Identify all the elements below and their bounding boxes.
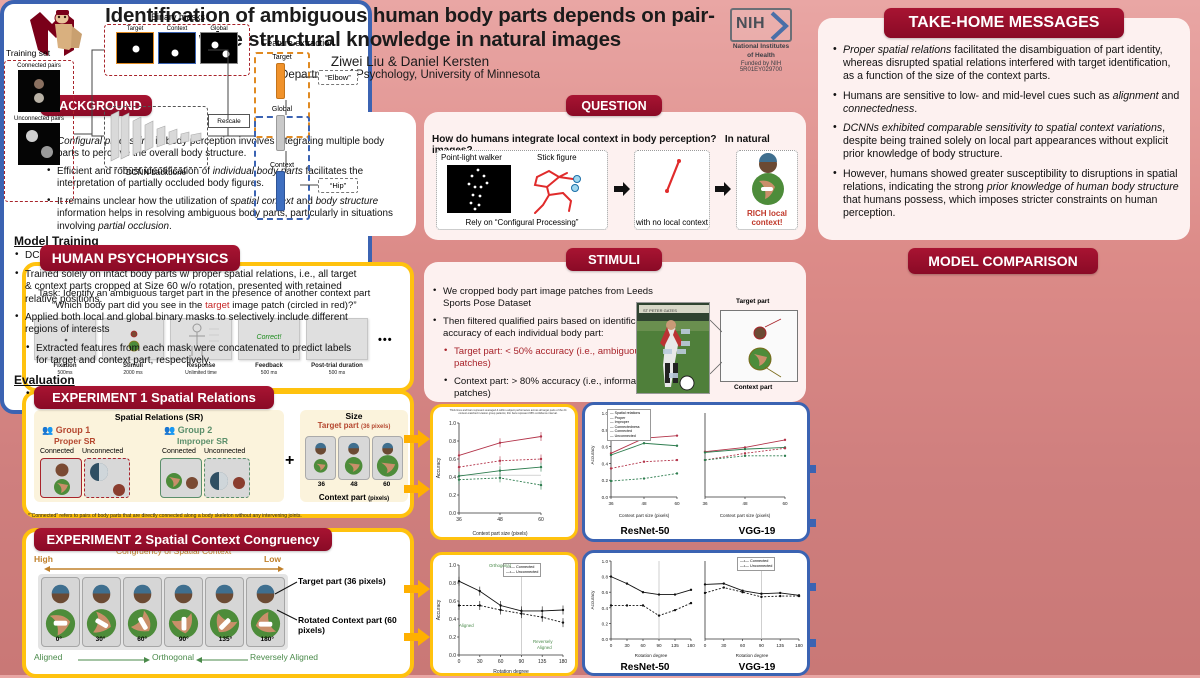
svg-text:60: 60 [538,517,544,523]
exp2-model-result-frame: 0.00.20.40.60.81.0Accuracy0306090135180R… [582,550,810,676]
rich-context-caption: RICH local context! [737,209,797,227]
svg-text:36: 36 [456,517,462,523]
svg-text:0.0: 0.0 [449,653,456,659]
stick-figure-label: Stick figure [537,153,577,162]
stimuli-target-callout: Target part [736,298,769,305]
nih-badge-icon: NIH [730,8,792,42]
legend-item: — Unconnected [610,434,648,439]
svg-text:0.6: 0.6 [602,445,609,450]
svg-text:60: 60 [498,659,504,665]
svg-text:0.4: 0.4 [602,606,609,611]
exp2-resnet-label: ResNet-50 [599,662,691,673]
svg-text:0.0: 0.0 [602,495,609,500]
svg-text:135: 135 [671,643,679,648]
experiment1-footnote: *“Connected” refers to pairs of body par… [28,513,408,519]
svg-text:36: 36 [608,501,614,506]
cell-improper-connected [160,458,202,498]
chevron-right-icon [769,11,791,41]
svg-text:Context part size (pixels): Context part size (pixels) [619,513,670,518]
no-context-image [635,151,709,203]
svg-text:30: 30 [477,659,483,665]
list-item: Extracted features from each mask were c… [14,343,362,368]
point-light-walker-label: Point-light walker [441,153,502,162]
svg-text:0.6: 0.6 [449,457,456,463]
svg-text:0: 0 [610,643,613,648]
svg-text:48: 48 [497,517,503,523]
cell-improper-unconnected [204,458,250,498]
cell-proper-connected [40,458,82,498]
svg-text:Rotation degree: Rotation degree [493,669,529,675]
svg-text:48: 48 [742,501,748,506]
question-card: How do humans integrate local context in… [424,112,806,240]
chart-annotation: Aligned [459,623,474,628]
model-comparison-title: MODEL COMPARISON [908,248,1098,274]
experiment2-angle-label: 0° [38,636,80,643]
svg-text:0.2: 0.2 [449,635,456,641]
flow-arrow-icon-1 [404,430,430,448]
svg-text:60: 60 [782,501,788,506]
svg-text:0.2: 0.2 [449,493,456,499]
stimuli-card: We cropped body part image patches from … [424,262,806,402]
size-tick-label: 60 [370,481,403,488]
experiment1-title: EXPERIMENT 1 Spatial Relations [34,386,274,409]
svg-text:30: 30 [624,643,630,648]
arrow-right-icon-1 [614,182,630,196]
callout-context-label: Rotated Context part (60 pixels) [298,616,410,635]
svg-text:0.6: 0.6 [602,590,609,595]
experiment2-angle-label: 135° [205,636,247,643]
stimuli-photo: ST PETER GATES [636,302,710,394]
svg-text:Accuracy: Accuracy [436,457,442,478]
congruency-arrow-icon [44,565,284,567]
no-context-caption: with no local context [635,218,709,227]
callout-target-label: Target part (36 pixels) [298,576,386,586]
stimuli-zoom-panel [720,310,798,382]
trial-ellipsis: ••• [378,334,393,346]
svg-text:0.8: 0.8 [602,575,609,580]
group1-label: 👥 Group 1 [42,425,90,436]
flow-arrow-icon-2 [404,480,430,498]
svg-text:Context part size (pixels): Context part size (pixels) [472,531,527,537]
svg-text:180: 180 [795,643,803,648]
model-comparison-card: Training set Connected pairs Unconnected… [0,0,372,414]
size-box: Size Target part (36 pixels) 364860 Cont… [300,410,408,502]
chart-annotation: Orthogonal [489,563,511,568]
svg-text:90: 90 [519,659,525,665]
group2-icon: 👥 [164,425,175,435]
svg-text:0.8: 0.8 [449,439,456,445]
exp1-model-result-frame: 0.00.20.40.60.81.0Accuracy364860Context … [582,402,810,542]
size-axis-label: Context part (pixels) [300,493,408,502]
size-cell [305,436,336,480]
flow-arrow-icon-3 [404,580,430,598]
svg-text:0.2: 0.2 [602,478,609,483]
question-title: QUESTION [566,95,662,116]
callout-lines-icon [269,576,301,626]
exp2-vgg-label: VGG-19 [711,662,803,673]
experiment2-title: EXPERIMENT 2 Spatial Context Congruency [34,528,332,551]
exp1-resnet-label: ResNet-50 [599,526,691,537]
group1-sub: Proper SR [54,436,96,446]
chart-annotation: Reversely [533,639,553,644]
list-item: Applied both local and global binary mas… [14,312,362,337]
size-title: Size [300,411,408,421]
group2-sub: Improper SR [177,436,228,446]
cell-proper-unconnected [84,458,130,498]
size-tick-label: 48 [338,481,371,488]
takehome-card: Proper spatial relations facilitated the… [818,18,1190,240]
svg-text:0.4: 0.4 [449,475,456,481]
svg-text:48: 48 [641,501,647,506]
stimuli-title: STIMULI [566,248,662,271]
svg-text:180: 180 [687,643,695,648]
svg-text:Rotation degree: Rotation degree [635,653,668,658]
sr-title: Spatial Relations (SR) [34,412,284,422]
nih-funding: Funded by NIH 5R01EY029700 [722,61,800,73]
question-prompt-main: How do humans integrate local context in… [432,134,716,145]
exp1-human-result-frame: Thick lines and bars represent averaged … [430,404,578,540]
svg-text:ST PETER GATES: ST PETER GATES [643,308,677,313]
group1-icon: 👥 [42,425,53,435]
svg-text:Context part size (pixels): Context part size (pixels) [720,513,771,518]
experiment2-angle-label: 60° [121,636,163,643]
svg-text:1.0: 1.0 [449,421,456,427]
model-diagram: Training set Connected pairs Unconnected… [0,10,364,228]
svg-text:90: 90 [656,643,662,648]
list-item: Proper spatial relations facilitated the… [832,44,1180,84]
svg-text:135: 135 [538,659,547,665]
svg-text:0.6: 0.6 [449,599,456,605]
svg-text:Rotation degree: Rotation degree [736,653,769,658]
poster-root: Identification of ambiguous human body p… [0,0,1200,675]
congruency-low: Low [264,554,281,564]
alignment-axis: Aligned Orthogonal Reversely Aligned [34,652,404,668]
question-panel-configural: Point-light walker Stick figure [436,150,608,230]
plus-sign: + [285,452,294,470]
chart-exp1-human: 0.00.20.40.60.81.0Accuracy364860Context … [433,415,575,537]
takehome-title: TAKE-HOME MESSAGES [884,8,1124,38]
stimuli-connector-icon [710,314,722,380]
svg-text:0.8: 0.8 [449,581,456,587]
nih-abbr: NIH [736,15,765,33]
svg-text:90: 90 [759,643,765,648]
g1-unconnected-label: Unconnected [82,448,123,455]
svg-text:1.0: 1.0 [602,559,609,564]
svg-text:0.0: 0.0 [449,511,456,517]
svg-text:Accuracy: Accuracy [590,445,595,465]
list-item: DCNNs exhibited comparable sensitivity t… [832,122,1180,162]
point-light-walker-image [447,165,511,213]
experiment2-angle-label: 90° [163,636,205,643]
configural-caption: Rely on “Configural Processing” [437,218,607,227]
svg-text:0.2: 0.2 [602,621,609,626]
nih-logo: NIH National Institutes of Health Funded… [722,8,800,73]
legend-item: —•— Unconnected [506,570,538,575]
svg-text:Accuracy: Accuracy [590,590,595,610]
list-item: However, humans showed greater susceptib… [832,168,1180,221]
svg-text:0.4: 0.4 [449,617,456,623]
svg-text:0.0: 0.0 [602,637,609,642]
chart-svg: 364860Context part size (pixels) [697,407,807,519]
svg-text:Accuracy: Accuracy [436,599,442,620]
g2-unconnected-label: Unconnected [204,448,245,455]
nih-line1: National Institutes [722,43,800,51]
chart-annotation: Aligned [537,645,552,650]
svg-text:36: 36 [702,501,708,506]
evaluation-header: Evaluation [14,374,362,386]
svg-text:30: 30 [721,643,727,648]
chart-exp2-resnet50: 0.00.20.40.60.81.0Accuracy0306090135180R… [587,555,699,659]
svg-text:0.4: 0.4 [602,461,609,466]
rich-context-image [737,151,797,211]
experiment1-card: Spatial Relations (SR) 👥 Group 1 Proper … [22,390,414,518]
axis-right-label: Reversely Aligned [250,652,318,662]
group2-label: 👥 Group 2 [164,425,212,436]
human-psychophysics-title: HUMAN PSYCHOPHYSICS [40,245,240,271]
svg-text:135: 135 [776,643,784,648]
svg-text:1.0: 1.0 [449,563,456,569]
axis-mid-label: Orthogonal [152,652,194,662]
svg-text:60: 60 [640,643,646,648]
chart-exp1-vgg19: 364860Context part size (pixels) [697,407,807,519]
exp2-human-result-frame: 0.00.20.40.60.81.0Accuracy0306090135180R… [430,552,578,676]
svg-text:0: 0 [458,659,461,665]
chart-legend: —•— Connected—•— Unconnected [737,557,775,571]
size-cell [372,436,403,480]
svg-text:60: 60 [740,643,746,648]
size-cell [338,436,369,480]
g1-connected-label: Connected [40,448,74,455]
svg-text:180: 180 [559,659,568,665]
size-tick-label: 36 [305,481,338,488]
stimuli-context-callout: Context part [734,384,772,391]
size-target-label: Target part (36 pixels) [300,421,408,430]
svg-text:60: 60 [674,501,680,506]
arrow-right-icon-2 [715,182,731,196]
diagram-connectors-icon [0,10,364,228]
chart-svg: 0.00.20.40.60.81.0Accuracy364860Context … [433,415,575,537]
flow-arrow-icon-4 [404,628,430,646]
svg-text:0: 0 [704,643,707,648]
experiment2-angle-label: 180° [246,636,288,643]
list-item: Humans are sensitive to low- and mid-lev… [832,90,1180,116]
chart-legend: — Spatial relations— Proper— Improper— C… [607,409,651,441]
legend-item: —•— Unconnected [740,564,772,569]
g2-connected-label: Connected [162,448,196,455]
congruency-high: High [34,554,53,564]
spatial-relations-box: Spatial Relations (SR) 👥 Group 1 Proper … [34,410,284,502]
size-ticks: 364860 [305,481,403,488]
question-panel-richcontext: RICH local context! [736,150,798,230]
experiment2-angle-label: 30° [80,636,122,643]
exp1-vgg-label: VGG-19 [711,526,803,537]
nih-line2: of Health [722,52,800,60]
list-item: Trained solely on intact body parts w/ p… [14,269,362,306]
axis-left-label: Aligned [34,652,62,662]
size-cells [305,436,403,480]
stick-figure-image [519,163,599,215]
chart-svg: 0.00.20.40.60.81.0Accuracy0306090135180R… [587,555,699,659]
question-panel-nocontext: with no local context [634,150,710,230]
takehome-list: Proper spatial relations facilitated the… [832,44,1180,220]
experiment2-angle-labels: 0°30°60°90°135°180° [38,636,288,643]
takehome-bullets: Proper spatial relations facilitated the… [832,44,1180,226]
